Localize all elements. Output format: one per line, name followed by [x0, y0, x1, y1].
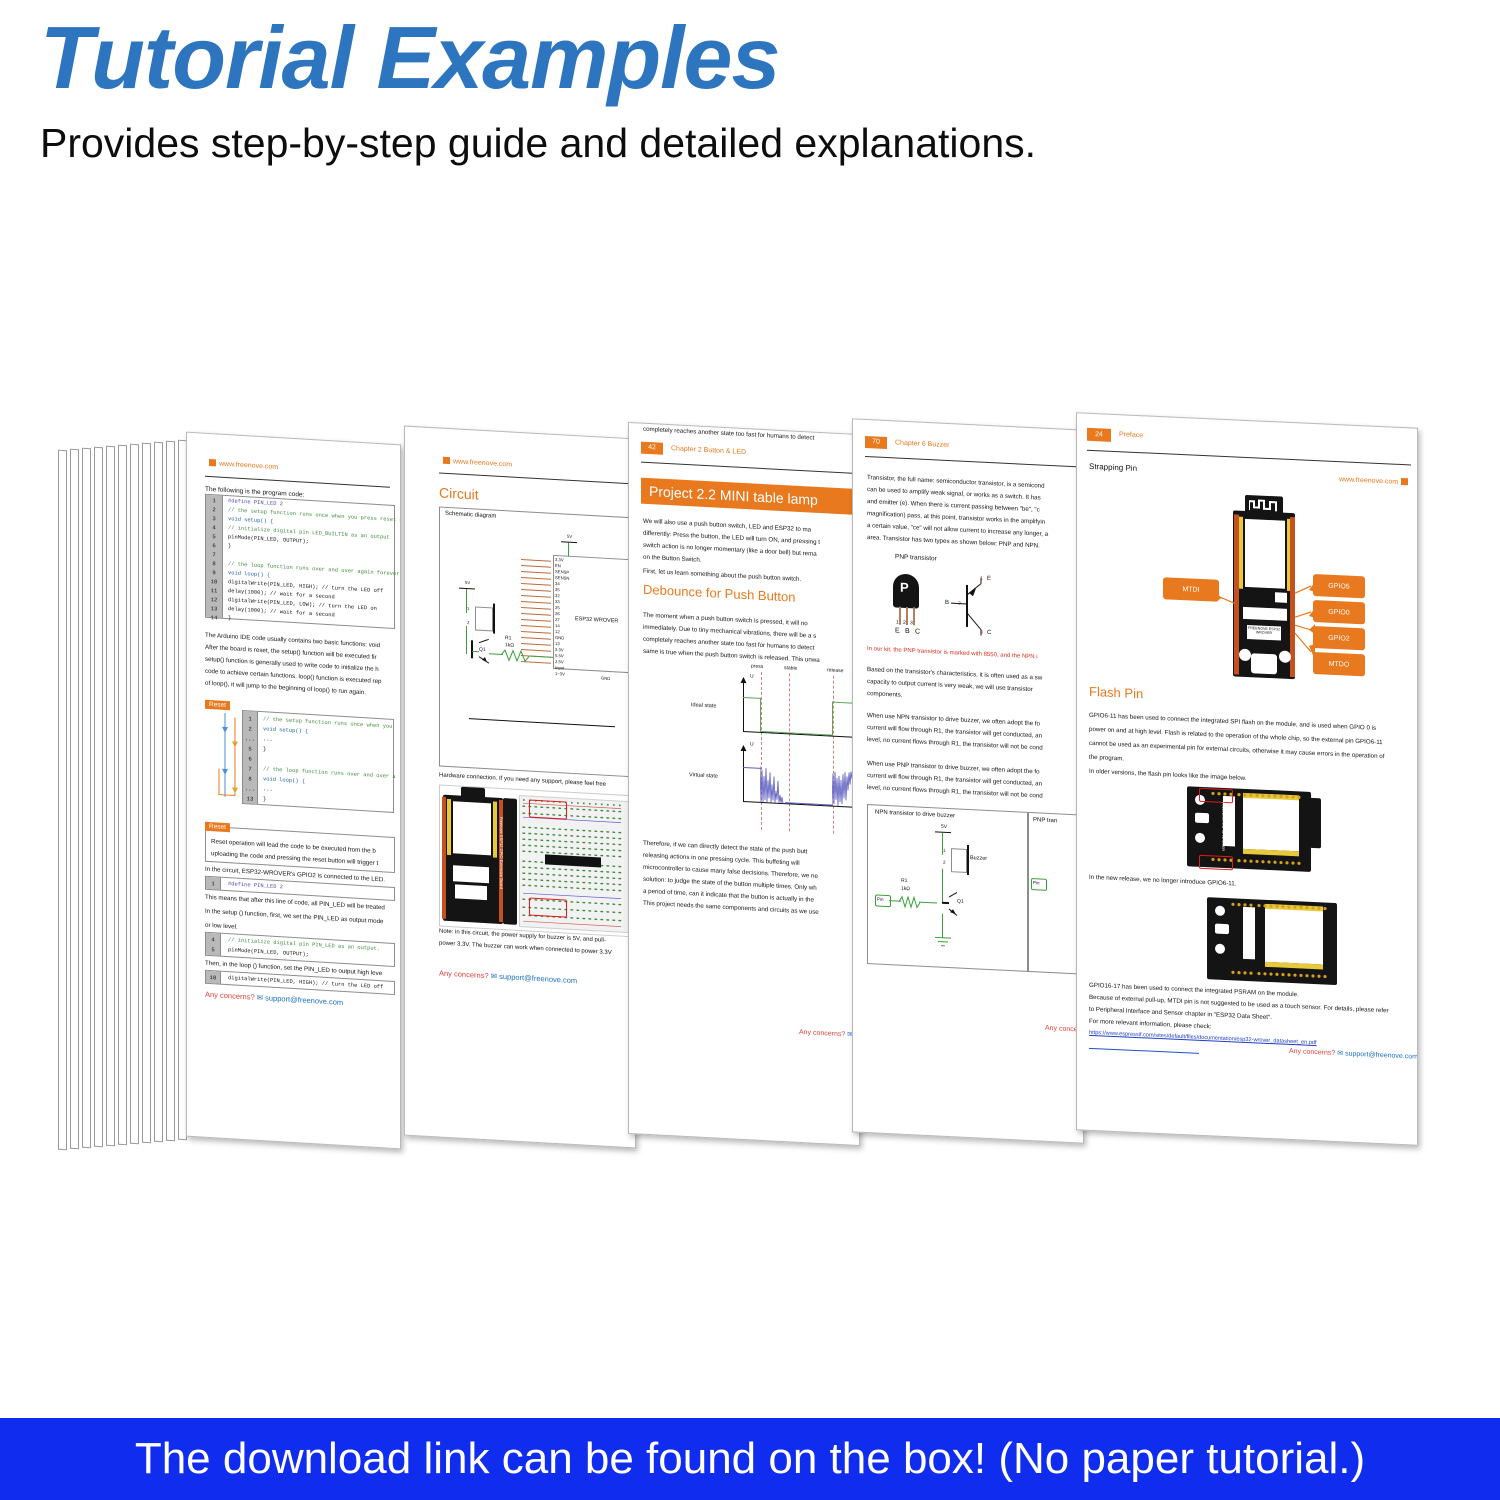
supply-5v-top: 5V — [405, 427, 635, 440]
mail-icon: ✉ — [1337, 1050, 1343, 1057]
reset-tag: Reset — [205, 700, 230, 710]
callout-gpio0: GPIO0 — [1313, 600, 1365, 624]
new-release-note: In the new release, we no longer introdu… — [1089, 872, 1236, 891]
gnd-label: GND — [601, 676, 610, 682]
freenove-square-icon — [443, 457, 450, 464]
page-edge — [70, 449, 79, 1150]
npn-schematic: 5V Buzzer 1 2 Q1 — [853, 419, 1083, 430]
document-stack: www.freenove.com The following is the pr… — [0, 400, 1500, 1180]
highlight-rect-flash-bottom — [1199, 855, 1233, 871]
buzzer-symbol — [951, 848, 967, 873]
buzzer-symbol — [475, 606, 493, 631]
document-page-buzzer-transistor[interactable]: 70 Chapter 6 Buzzer Transistor, the full… — [852, 418, 1084, 1143]
code-block-flow: 1 // the setup function runs once when y… — [242, 710, 394, 813]
tail-body-block: GPIO16-17 has been used to connect the i… — [1077, 413, 1417, 428]
paragraph-block: The Arduino IDE code usually contains tw… — [187, 433, 400, 446]
chip-pins: 3.3V EN SENSP SENSN 34 35 32 33 25 26 27… — [405, 427, 635, 440]
callout-pointers-right — [1291, 573, 1317, 674]
transistor-mark: P — [900, 580, 909, 595]
page-edge — [166, 441, 175, 1142]
mail-icon: ✉ — [257, 993, 263, 1002]
chapter-label: Preface — [1119, 431, 1143, 439]
section-heading-circuit: Circuit — [439, 484, 479, 502]
page-number-badge: 42 — [641, 442, 663, 455]
site-footer-label: www.freenove.com — [443, 457, 512, 469]
resistor-ref: R1 — [505, 635, 511, 641]
flash-body-block: GPIO6-11 has been used to connect the in… — [1077, 413, 1417, 428]
chapter-label: Chapter 6 Buzzer — [895, 439, 949, 449]
document-page-circuit[interactable]: www.freenove.com Circuit Schematic diagr… — [404, 426, 636, 1149]
note-tag: Reset — [205, 822, 230, 832]
freenove-square-icon — [1401, 478, 1408, 485]
section-heading-debounce: Debounce for Push Button — [643, 582, 796, 605]
page-edge — [154, 442, 163, 1143]
page-number-badge: 24 — [1087, 428, 1111, 442]
transistor-photo: P 1 2 3 E B C — [853, 419, 1083, 430]
document-page-strapping-flash-pin[interactable]: 24 Preface Strapping Pin www.freenove.co… — [1076, 412, 1418, 1146]
support-footer[interactable]: Any concerns? ✉ support@freenove.com — [1289, 1047, 1418, 1061]
document-page-mini-table-lamp[interactable]: 42 Chapter 2 Button & LED Project 2.2 MI… — [628, 422, 860, 1146]
pnp-diagram-title: PNP tran — [1033, 817, 1057, 824]
body-block: Based on the transistor's characteristic… — [853, 419, 1083, 430]
buzzer-branch: 5V 1 2 Q1 — [405, 427, 635, 440]
support-footer[interactable]: Any concerns? ✉ — [799, 1028, 853, 1039]
page-subtitle: Provides step-by-step guide and detailed… — [40, 120, 1340, 167]
esp32-board-diagram: FREENOVE ESP32 WROVER — [1077, 413, 1417, 428]
chapter-label: Chapter 2 Button & LED — [671, 445, 746, 456]
transistor-ref: Q1 — [957, 898, 964, 904]
page-edge — [106, 446, 115, 1147]
site-footer-label: www.freenove.com — [1339, 475, 1408, 486]
resistor-value: 1kΩ — [505, 642, 514, 649]
callout-pointer-left — [1215, 585, 1237, 612]
flash-board-photo-old: FREENOVE ESP32 WROVER — [1077, 413, 1417, 428]
transistor-symbol: 1 E 2 B 3 C — [853, 419, 1083, 430]
page-title: Tutorial Examples — [40, 12, 1340, 104]
download-banner-text: The download link can be found on the bo… — [135, 1434, 1365, 1484]
freenove-square-icon — [209, 459, 216, 466]
tail-block: In the circuit, ESP32-WROVER's GPIO2 is … — [187, 433, 400, 446]
board-silkscreen-label: FREENOVE ESP32 WROVER — [1248, 627, 1280, 636]
extension-board-label: Freenove ESP32 GPIO Extension Board — [499, 817, 504, 917]
page-edge — [94, 447, 103, 1148]
support-footer[interactable]: Any concerns? ✉ support@freenove.com — [205, 990, 343, 1007]
kit-note: In our kit, the PNP transistor is marked… — [867, 646, 1038, 660]
esp32-board-photo: Freenove ESP32 GPIO Extension Board — [405, 427, 635, 440]
document-page-program-code[interactable]: www.freenove.com The following is the pr… — [186, 432, 401, 1150]
page-edge — [130, 444, 139, 1145]
page-edge — [82, 448, 91, 1149]
section-heading-flash: Flash Pin — [1089, 684, 1143, 701]
highlight-rect-bottom — [529, 898, 567, 918]
mail-icon: ✉ — [491, 971, 497, 980]
code-block-main: 1 #define PIN_LED 2 2 // the setup funct… — [205, 494, 395, 629]
body-block: The moment when a push button switch is … — [629, 423, 859, 435]
callout-gpio5: GPIO5 — [1313, 574, 1365, 598]
flash-board-photo-new — [1077, 413, 1417, 428]
page-header: Tutorial Examples Provides step-by-step … — [40, 12, 1340, 167]
highlight-rect-flash-top — [1199, 788, 1233, 804]
section-heading-strapping: Strapping Pin — [1089, 462, 1137, 473]
page-edge — [118, 445, 127, 1146]
highlight-rect-top — [529, 800, 567, 820]
transistor-ref: Q1 — [479, 647, 486, 653]
circuit-note-line-2: power 3.3V. The buzzer can work when con… — [439, 940, 612, 956]
site-footer-label: www.freenove.com — [209, 459, 278, 471]
board-silkscreen-label-2: FREENOVE ESP32 WROVER — [1221, 802, 1225, 851]
page-edge — [142, 443, 151, 1144]
page-number-badge: 70 — [865, 436, 887, 449]
figure-label-pnp: PNP transistor — [895, 553, 937, 562]
callout-mtdo: MTDO — [1313, 652, 1365, 676]
support-footer[interactable]: Any concerns? ✉ support@freenove.com — [439, 968, 577, 985]
callout-mtdi: MTDI — [1163, 577, 1219, 602]
callout-gpio2: GPIO2 — [1313, 626, 1365, 650]
intro-block: Transistor, the full name: semiconductor… — [853, 419, 1083, 430]
download-banner: The download link can be found on the bo… — [0, 1418, 1500, 1500]
page-edge — [58, 450, 67, 1151]
